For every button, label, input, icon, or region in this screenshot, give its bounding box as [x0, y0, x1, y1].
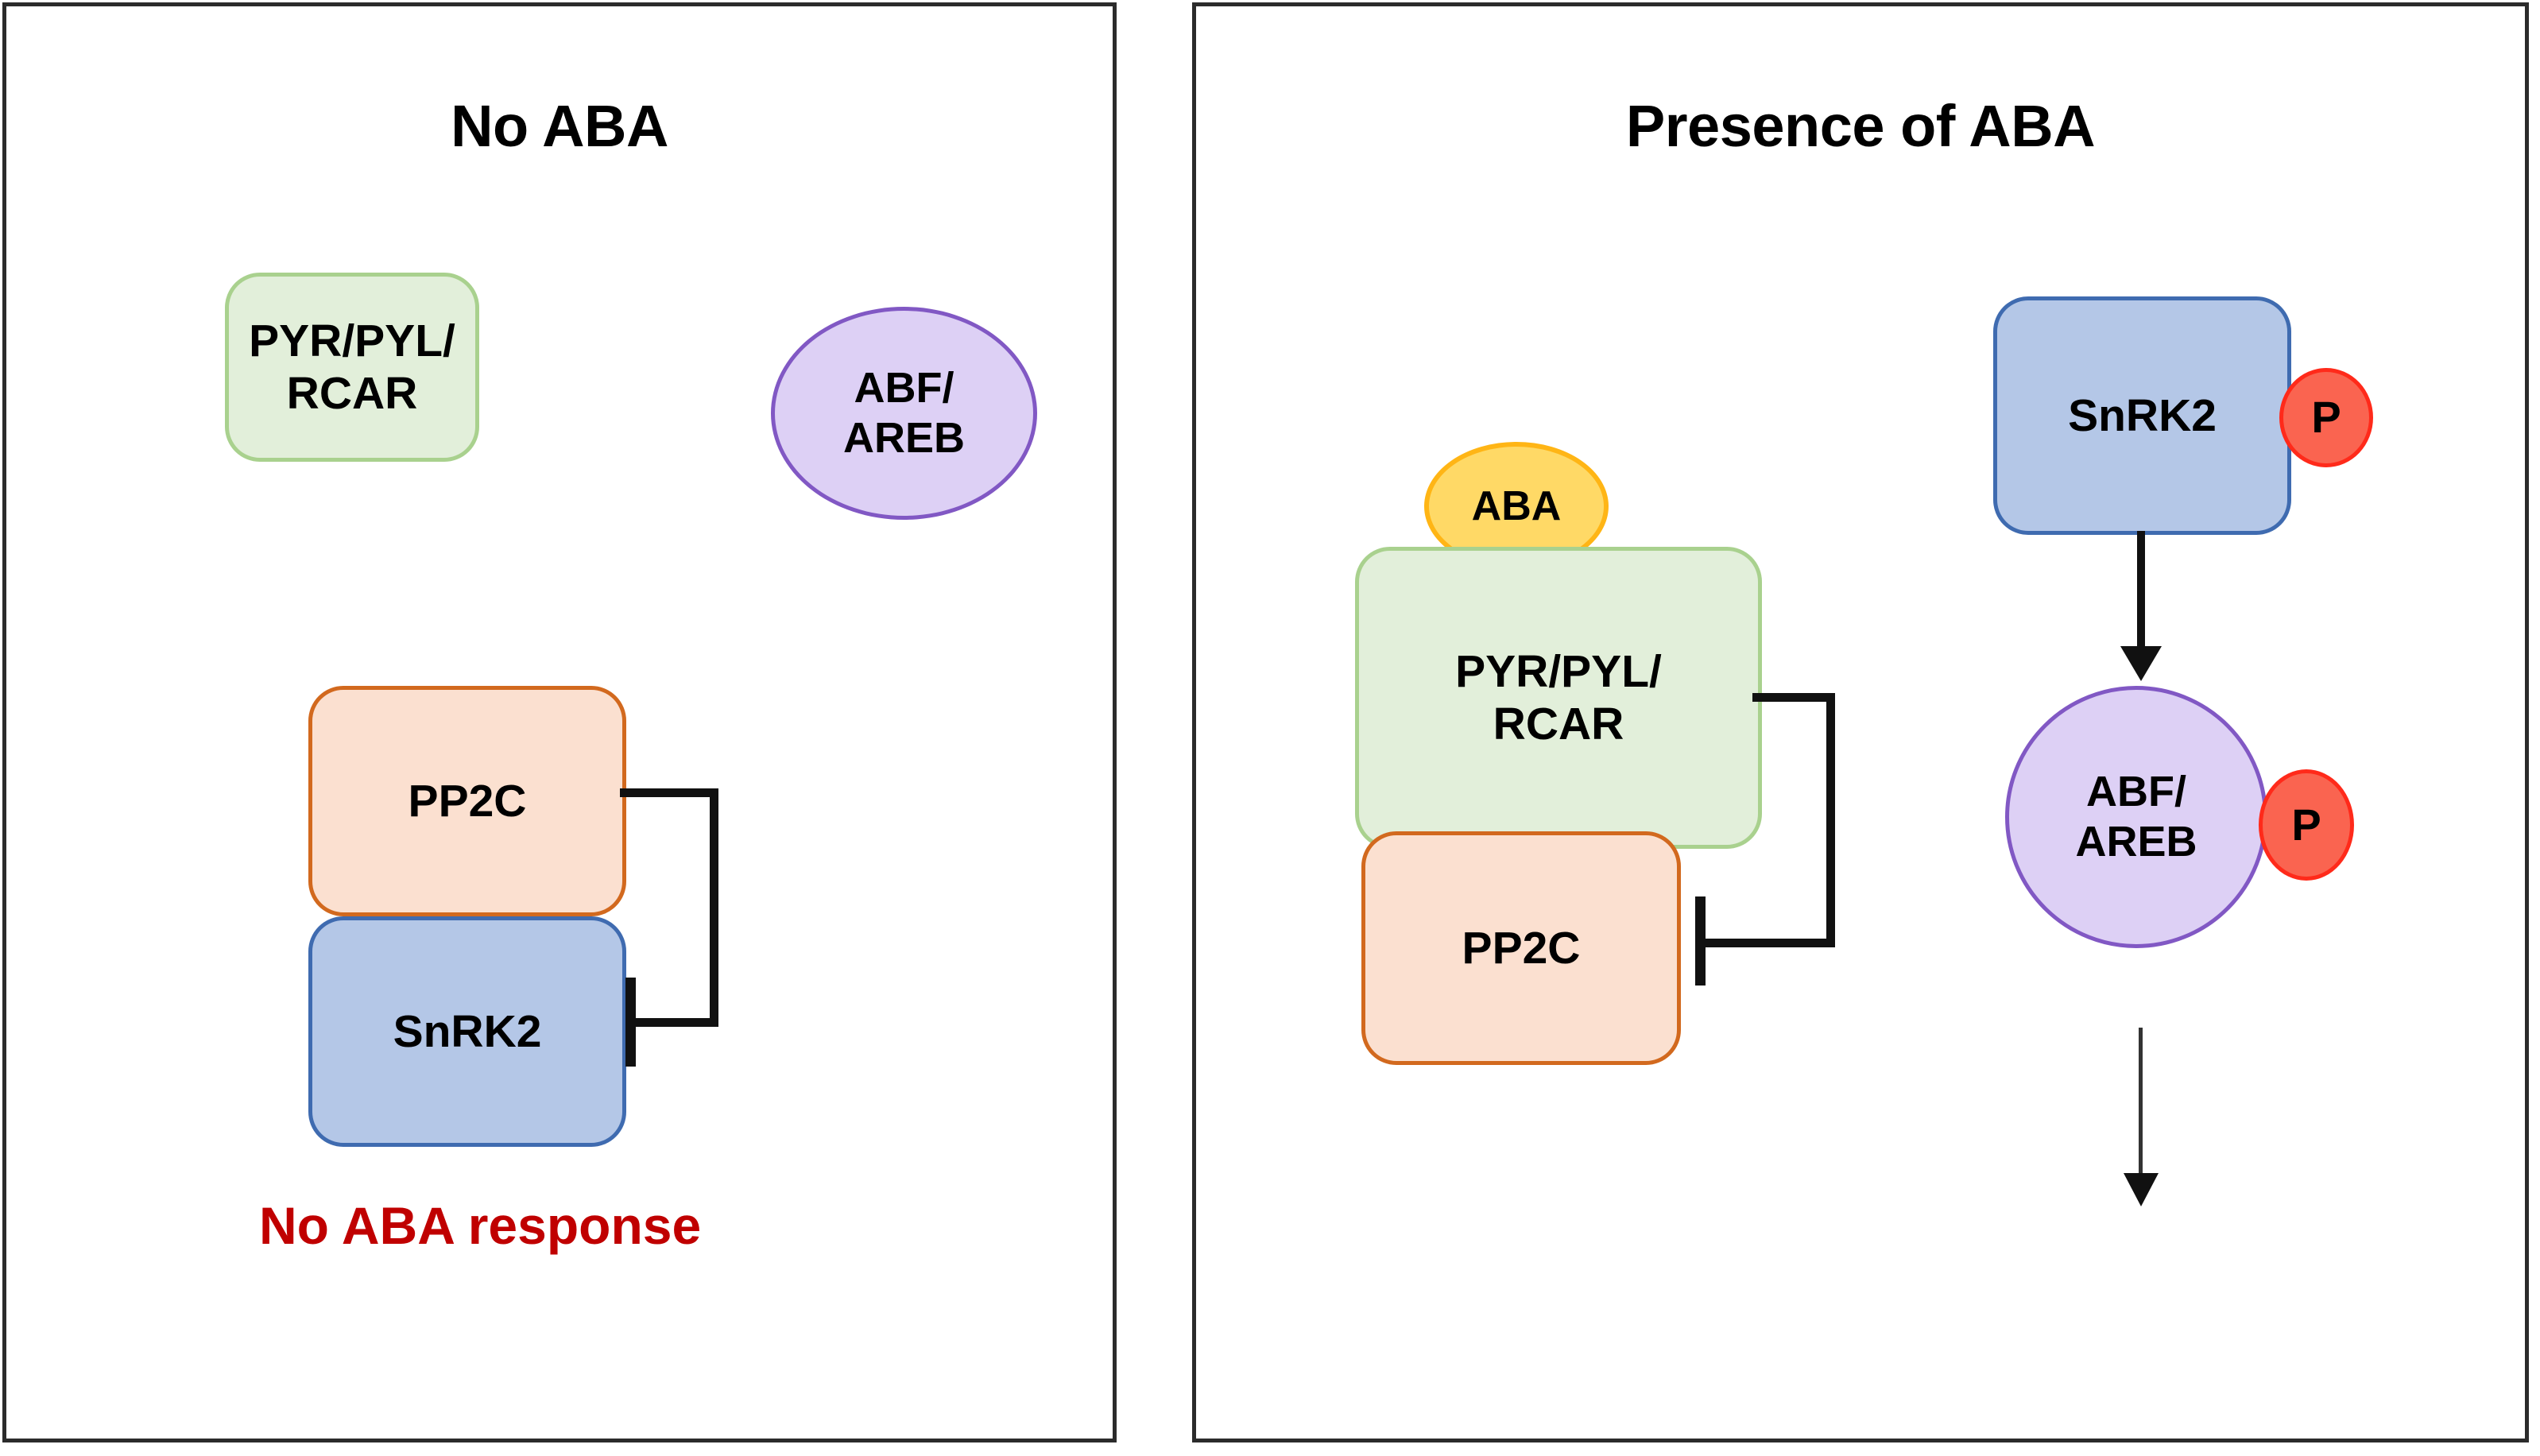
activation-arrow-head-gene-to-response: [2124, 1173, 2159, 1206]
inhibition-edge-top-segment-left: [620, 788, 718, 797]
panel-no-aba: No ABA PYR/PYL/ RCAR ABF/ AREB PP2C SnRK…: [2, 2, 1117, 1442]
inhibition-edge-vertical-segment-left: [710, 788, 718, 1027]
node-snrk2-left: SnRK2: [308, 916, 626, 1147]
inhibition-edge-bottom-segment-left: [628, 1018, 718, 1027]
phosphate-badge-abf-areb: P: [2259, 769, 2354, 881]
node-pp2c-right: PP2C: [1361, 831, 1681, 1065]
phosphate-badge-snrk2: P: [2279, 368, 2373, 467]
node-pyr-pyl-rcar-left: PYR/PYL/ RCAR: [225, 273, 479, 462]
panel-presence-of-aba: Presence of ABA ABA PYR/PYL/ RCAR PP2C S…: [1192, 2, 2529, 1442]
activation-arrow-head-snrk2-to-abf: [2120, 646, 2162, 681]
figure-canvas: No ABA PYR/PYL/ RCAR ABF/ AREB PP2C SnRK…: [0, 0, 2540, 1456]
inhibition-edge-tbar-left: [625, 978, 636, 1067]
node-pp2c-left: PP2C: [308, 686, 626, 916]
activation-arrow-shaft-snrk2-to-abf: [2137, 531, 2145, 654]
activation-arrow-shaft-gene-to-response: [2139, 1028, 2143, 1183]
node-pyr-pyl-rcar-right: PYR/PYL/ RCAR: [1355, 547, 1762, 849]
node-snrk2-right: SnRK2: [1993, 296, 2291, 535]
inhibition-edge-vertical-segment-right: [1826, 693, 1835, 947]
outcome-no-aba-response: No ABA response: [259, 1195, 701, 1256]
inhibition-edge-bottom-segment-right: [1698, 939, 1835, 947]
panel-title-presence-of-aba: Presence of ABA: [1196, 92, 2525, 160]
panel-title-no-aba: No ABA: [6, 92, 1113, 160]
inhibition-edge-top-segment-right: [1752, 693, 1835, 702]
inhibition-edge-tbar-right: [1695, 896, 1706, 986]
node-abf-areb-right: ABF/ AREB: [2005, 686, 2267, 948]
node-abf-areb-left: ABF/ AREB: [771, 307, 1037, 520]
